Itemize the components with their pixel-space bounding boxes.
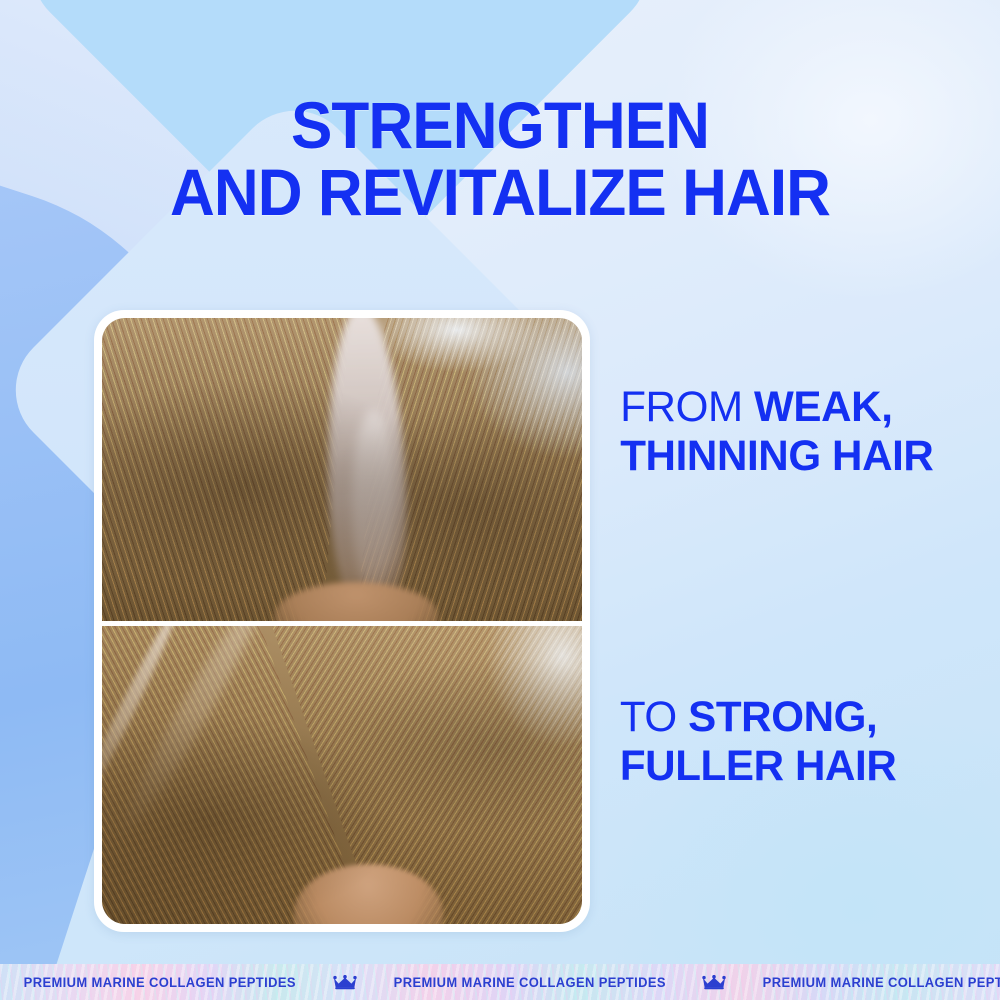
caption-after-emphasis-1: STRONG, xyxy=(688,693,877,741)
footer-label: PREMIUM MARINE COLLAGEN PEPTIDES xyxy=(24,975,296,990)
caption-after: TO STRONG, FULLER HAIR xyxy=(620,693,897,791)
caption-before-lead: FROM xyxy=(620,383,754,431)
footer-track: PREMIUM MARINE COLLAGEN PEPTIDES PREMIUM… xyxy=(0,975,1000,990)
caption-before: FROM WEAK, THINNING HAIR xyxy=(620,383,933,481)
headline-line-2: AND REVITALIZE HAIR xyxy=(30,159,970,226)
footer-label: PREMIUM MARINE COLLAGEN PEPTIDES xyxy=(763,975,1000,990)
photo-after xyxy=(102,621,582,924)
promo-canvas: STRENGTHEN AND REVITALIZE HAIR xyxy=(0,0,1000,1000)
footer-banner: PREMIUM MARINE COLLAGEN PEPTIDES PREMIUM… xyxy=(0,964,1000,1000)
headline-line-1: STRENGTHEN xyxy=(30,92,970,159)
footer-label: PREMIUM MARINE COLLAGEN PEPTIDES xyxy=(393,975,665,990)
crown-icon xyxy=(332,975,358,990)
before-after-photo-frame xyxy=(94,310,590,932)
photo-before xyxy=(102,318,582,621)
caption-after-emphasis-2: FULLER HAIR xyxy=(620,742,897,790)
crown-icon xyxy=(701,975,727,990)
photo-shading xyxy=(102,626,582,924)
photo-shading xyxy=(102,318,582,621)
caption-before-emphasis-2: THINNING HAIR xyxy=(620,432,933,480)
caption-after-lead: TO xyxy=(620,693,688,741)
caption-before-emphasis-1: WEAK, xyxy=(754,383,893,431)
photo-stack xyxy=(102,318,582,924)
headline: STRENGTHEN AND REVITALIZE HAIR xyxy=(30,92,970,227)
